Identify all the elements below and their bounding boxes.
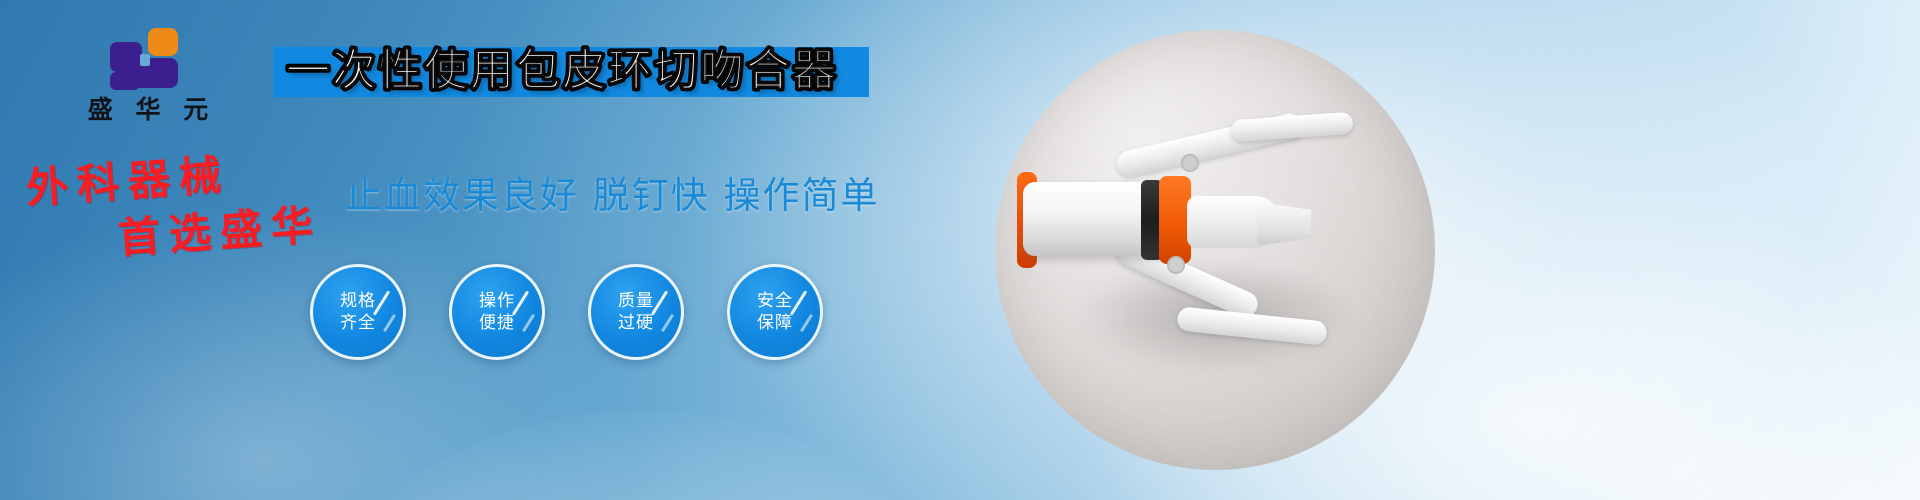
stapler-pivot-lower	[1167, 256, 1185, 274]
slash-decoration-small-icon	[800, 314, 813, 333]
subtitle-text: 止血效果良好 脱钉快 操作简单	[345, 165, 880, 219]
feature-badge-label-line2: 齐全	[340, 312, 376, 334]
feature-badge-quality[interactable]: 质量 过硬	[588, 264, 684, 360]
brand-logo[interactable]: 盛 华 元	[58, 28, 238, 124]
slash-decoration-small-icon	[383, 314, 396, 333]
feature-badge-list: 规格 齐全 操作 便捷 质量 过硬 安全 保障	[310, 264, 823, 360]
stapler-arm-upper-extension	[1230, 112, 1353, 142]
product-banner: 盛 华 元 一次性使用包皮环切吻合器 外科器械 首选盛华 止血效果良好 脱钉快 …	[0, 0, 1920, 500]
feature-badge-operation[interactable]: 操作 便捷	[449, 264, 545, 360]
feature-badge-label-line2: 保障	[757, 312, 793, 334]
feature-badge-label-line1: 质量	[618, 290, 654, 312]
stapler-device-illustration	[995, 30, 1435, 470]
stapler-pivot-upper	[1181, 154, 1199, 172]
logo-block-lower-left	[110, 72, 140, 90]
logo-block-orange	[148, 28, 178, 56]
page-title: 一次性使用包皮环切吻合器	[286, 42, 838, 100]
feature-badge-label-line1: 安全	[757, 290, 793, 312]
feature-badge-label-line1: 规格	[340, 290, 376, 312]
shenghuayuan-logo-mark-icon	[110, 28, 186, 90]
calligraphy-line-2: 首选盛华	[116, 191, 324, 266]
brand-name: 盛 华 元	[58, 96, 238, 124]
slash-decoration-small-icon	[661, 314, 674, 333]
slash-decoration-small-icon	[522, 314, 535, 333]
feature-badge-label-line2: 过硬	[618, 312, 654, 334]
stapler-tip	[1257, 202, 1311, 246]
feature-badge-label-line2: 便捷	[479, 312, 515, 334]
feature-badge-specifications[interactable]: 规格 齐全	[310, 264, 406, 360]
feature-badge-label-line1: 操作	[479, 290, 515, 312]
background-arc-decoration	[330, 410, 950, 500]
logo-notch	[140, 54, 150, 66]
product-photo-disc	[995, 30, 1435, 470]
feature-badge-safety[interactable]: 安全 保障	[727, 264, 823, 360]
